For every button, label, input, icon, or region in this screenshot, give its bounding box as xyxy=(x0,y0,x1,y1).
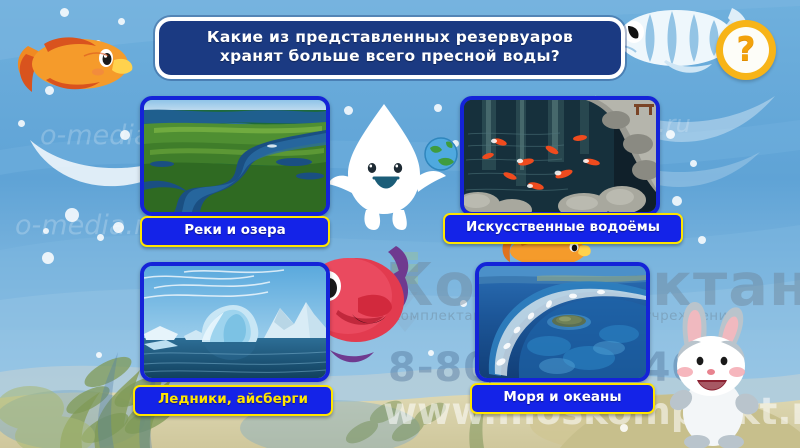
bubble xyxy=(698,236,706,244)
bubble xyxy=(113,222,124,233)
question-text: Какие из представленных резервуаров хран… xyxy=(207,28,573,66)
answer-photo-rivers[interactable] xyxy=(140,96,330,216)
bubble xyxy=(18,120,25,127)
question-banner: Какие из представленных резервуаров хран… xyxy=(155,17,625,79)
answer-photo-glaciers[interactable] xyxy=(140,262,330,382)
answer-label-glaciers[interactable]: Ледники, айсберги xyxy=(133,385,333,416)
game-stage: o-media.ru o-media.ru o-media.ru Комплек… xyxy=(0,0,800,448)
bubble xyxy=(97,234,104,241)
answer-photo-artificial[interactable] xyxy=(460,96,660,216)
answer-label-rivers[interactable]: Реки и озера xyxy=(140,216,330,247)
answer-card-rivers[interactable] xyxy=(140,96,330,216)
orange-fish-icon xyxy=(10,24,135,102)
answer-photo-seas[interactable] xyxy=(475,262,650,382)
bubble xyxy=(620,424,628,432)
answer-card-seas[interactable] xyxy=(475,262,650,382)
bubble xyxy=(690,160,697,167)
bubble xyxy=(60,8,69,17)
answer-card-artificial[interactable] xyxy=(460,96,660,216)
grey-rabbit-icon xyxy=(655,300,775,448)
bubble xyxy=(65,208,79,222)
bubble xyxy=(120,130,130,140)
bubble xyxy=(460,300,467,307)
answer-card-glaciers[interactable] xyxy=(140,262,330,382)
bubble xyxy=(96,352,102,358)
bubble xyxy=(43,228,49,234)
water-droplet-character-icon xyxy=(328,98,460,233)
bubble xyxy=(42,252,54,264)
bubble xyxy=(428,350,434,356)
answer-label-artificial[interactable]: Искусственные водоёмы xyxy=(443,213,683,244)
question-mark-icon: ? xyxy=(736,32,755,65)
help-button[interactable]: ? xyxy=(716,20,776,80)
help-button-inner: ? xyxy=(723,27,769,73)
bubble xyxy=(666,130,675,139)
bubble xyxy=(672,196,682,206)
answer-label-seas[interactable]: Моря и океаны xyxy=(470,383,655,414)
